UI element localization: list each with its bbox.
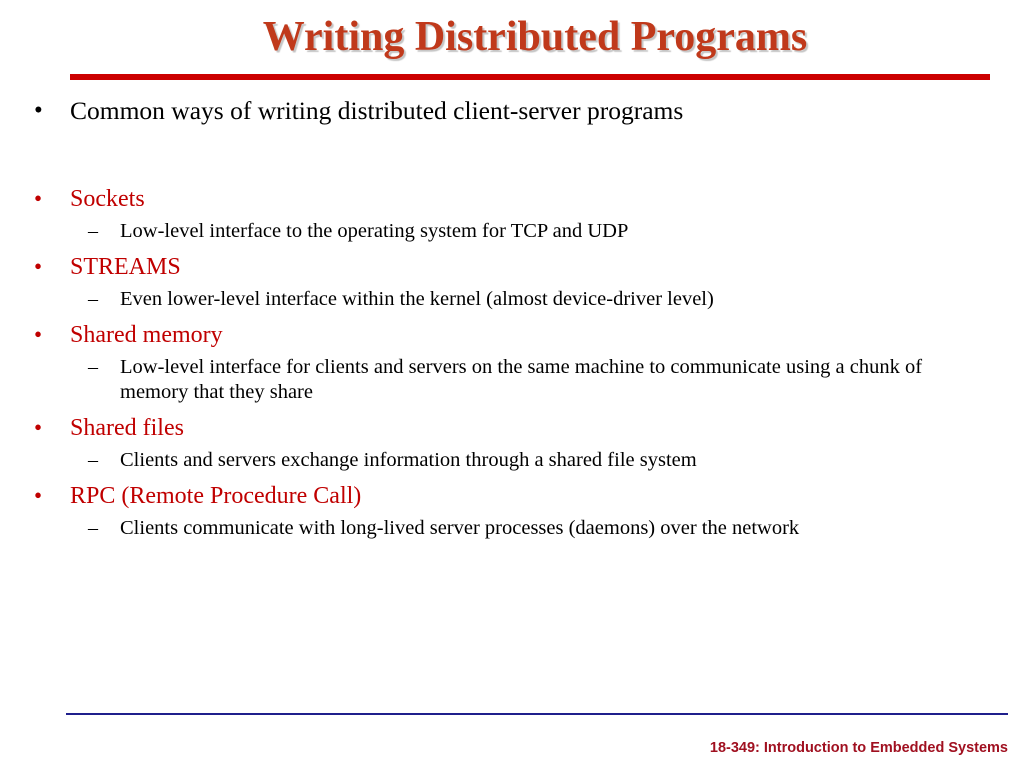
section-detail-label: Even lower-level interface within the ke… <box>120 287 1024 312</box>
bullet-dot-icon: • <box>34 481 42 511</box>
dash-icon: – <box>88 355 98 380</box>
spacer <box>0 405 1024 413</box>
section-detail-label: Clients communicate with long-lived serv… <box>120 516 1024 541</box>
section-detail-label: Low-level interface to the operating sys… <box>120 219 1024 244</box>
section-heading-streams: • STREAMS <box>0 252 1024 282</box>
section-heading-label: Shared files <box>70 415 184 441</box>
slide-canvas: Writing Distributed Programs • Common wa… <box>0 0 1024 768</box>
section-detail-shared-files: – Clients and servers exchange informati… <box>0 448 1024 473</box>
title-underline-rule <box>70 74 990 80</box>
section-detail-label: Clients and servers exchange information… <box>120 448 1024 473</box>
section-heading-shared-files: • Shared files <box>0 413 1024 443</box>
intro-bullet-label: Common ways of writing distributed clien… <box>70 96 1024 126</box>
dash-icon: – <box>88 448 98 473</box>
spacer <box>0 312 1024 320</box>
section-heading-label: Shared memory <box>70 322 223 348</box>
spacer <box>0 473 1024 481</box>
footer-divider <box>66 713 1008 715</box>
page-title: Writing Distributed Programs <box>70 10 1000 64</box>
section-heading-label: Sockets <box>70 186 145 212</box>
section-heading-label: STREAMS <box>70 254 181 280</box>
footer-course-label: 18-349: Introduction to Embedded Systems <box>710 740 1008 756</box>
section-detail-label: Low-level interface for clients and serv… <box>120 355 1024 405</box>
spacer <box>0 126 1024 184</box>
dash-icon: – <box>88 516 98 541</box>
section-detail-shared-memory: – Low-level interface for clients and se… <box>0 355 1024 405</box>
bullet-dot-icon: • <box>34 320 42 350</box>
section-detail-rpc: – Clients communicate with long-lived se… <box>0 516 1024 541</box>
bullet-dot-icon: • <box>34 184 42 214</box>
section-detail-sockets: – Low-level interface to the operating s… <box>0 219 1024 244</box>
section-heading-rpc: • RPC (Remote Procedure Call) <box>0 481 1024 511</box>
dash-icon: – <box>88 287 98 312</box>
section-heading-label: RPC (Remote Procedure Call) <box>70 483 361 509</box>
section-heading-shared-memory: • Shared memory <box>0 320 1024 350</box>
bullet-dot-icon: • <box>34 96 43 126</box>
bullet-dot-icon: • <box>34 413 42 443</box>
dash-icon: – <box>88 219 98 244</box>
section-heading-sockets: • Sockets <box>0 184 1024 214</box>
slide-title-block: Writing Distributed Programs <box>0 10 1024 80</box>
section-detail-streams: – Even lower-level interface within the … <box>0 287 1024 312</box>
slide-body: • Common ways of writing distributed cli… <box>0 96 1024 541</box>
bullet-dot-icon: • <box>34 252 42 282</box>
intro-bullet: • Common ways of writing distributed cli… <box>0 96 1024 126</box>
spacer <box>0 244 1024 252</box>
